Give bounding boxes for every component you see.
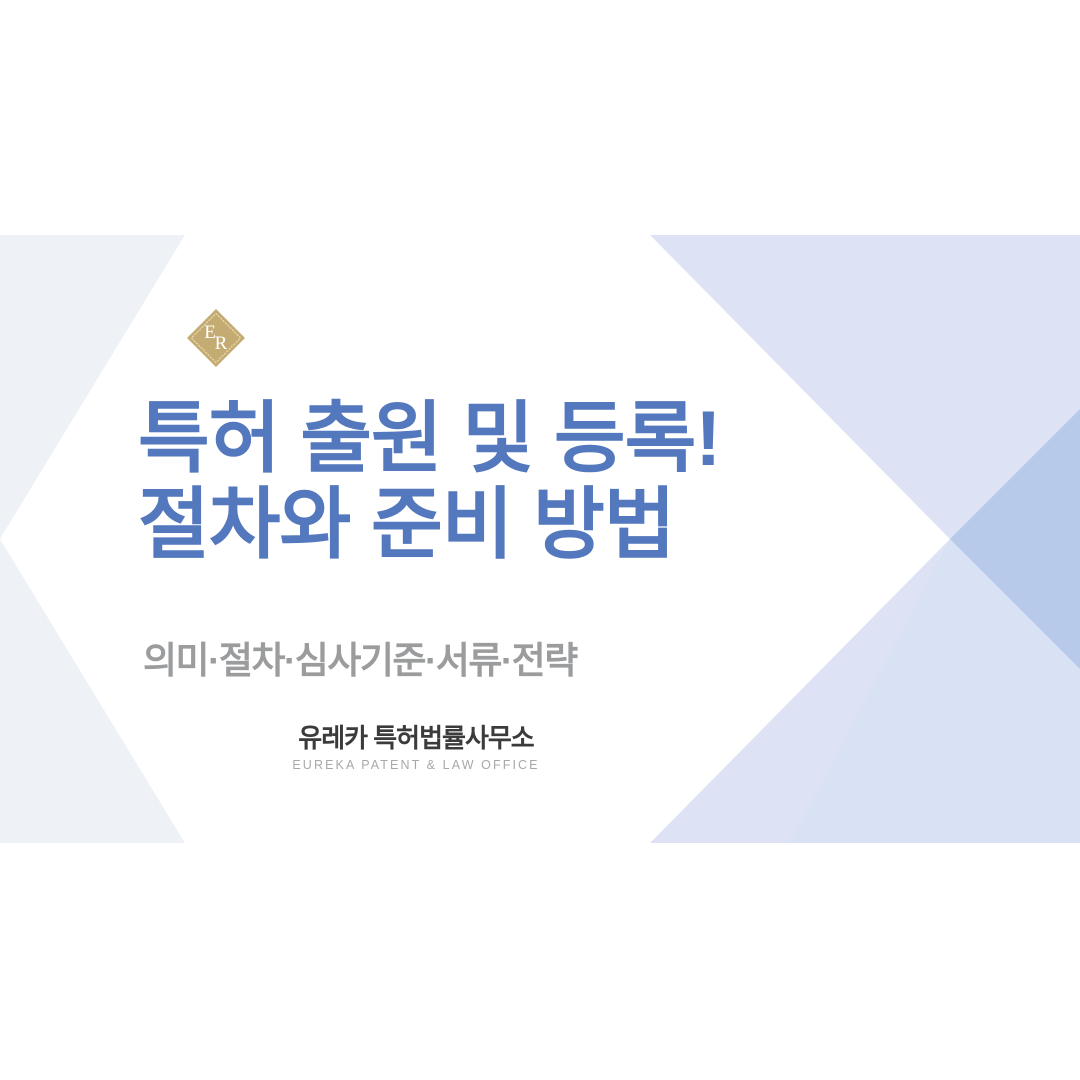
brand-name-english: EUREKA PATENT & LAW OFFICE: [138, 758, 694, 773]
brand-lockup: 유레카 특허법률사무소 EUREKA PATENT & LAW OFFICE: [138, 723, 694, 773]
page-title: 특허 출원 및 등록! 절차와 준비 방법: [138, 395, 858, 567]
subtitle: 의미·절차·심사기준·서류·전략: [143, 639, 577, 683]
diamond-monogram-icon: E R: [185, 307, 247, 369]
title-line-1: 특허 출원 및 등록!: [138, 395, 858, 481]
title-line-2: 절차와 준비 방법: [138, 481, 858, 567]
brand-name-korean: 유레카 특허법률사무소: [138, 723, 694, 753]
slide-canvas: E R 특허 출원 및 등록! 절차와 준비 방법 의미·절차·심사기준·서류·…: [0, 0, 1080, 1080]
slide-content: E R 특허 출원 및 등록! 절차와 준비 방법 의미·절차·심사기준·서류·…: [0, 235, 1080, 843]
logo-letter-r: R: [215, 333, 228, 354]
title-slide: E R 특허 출원 및 등록! 절차와 준비 방법 의미·절차·심사기준·서류·…: [0, 235, 1080, 843]
